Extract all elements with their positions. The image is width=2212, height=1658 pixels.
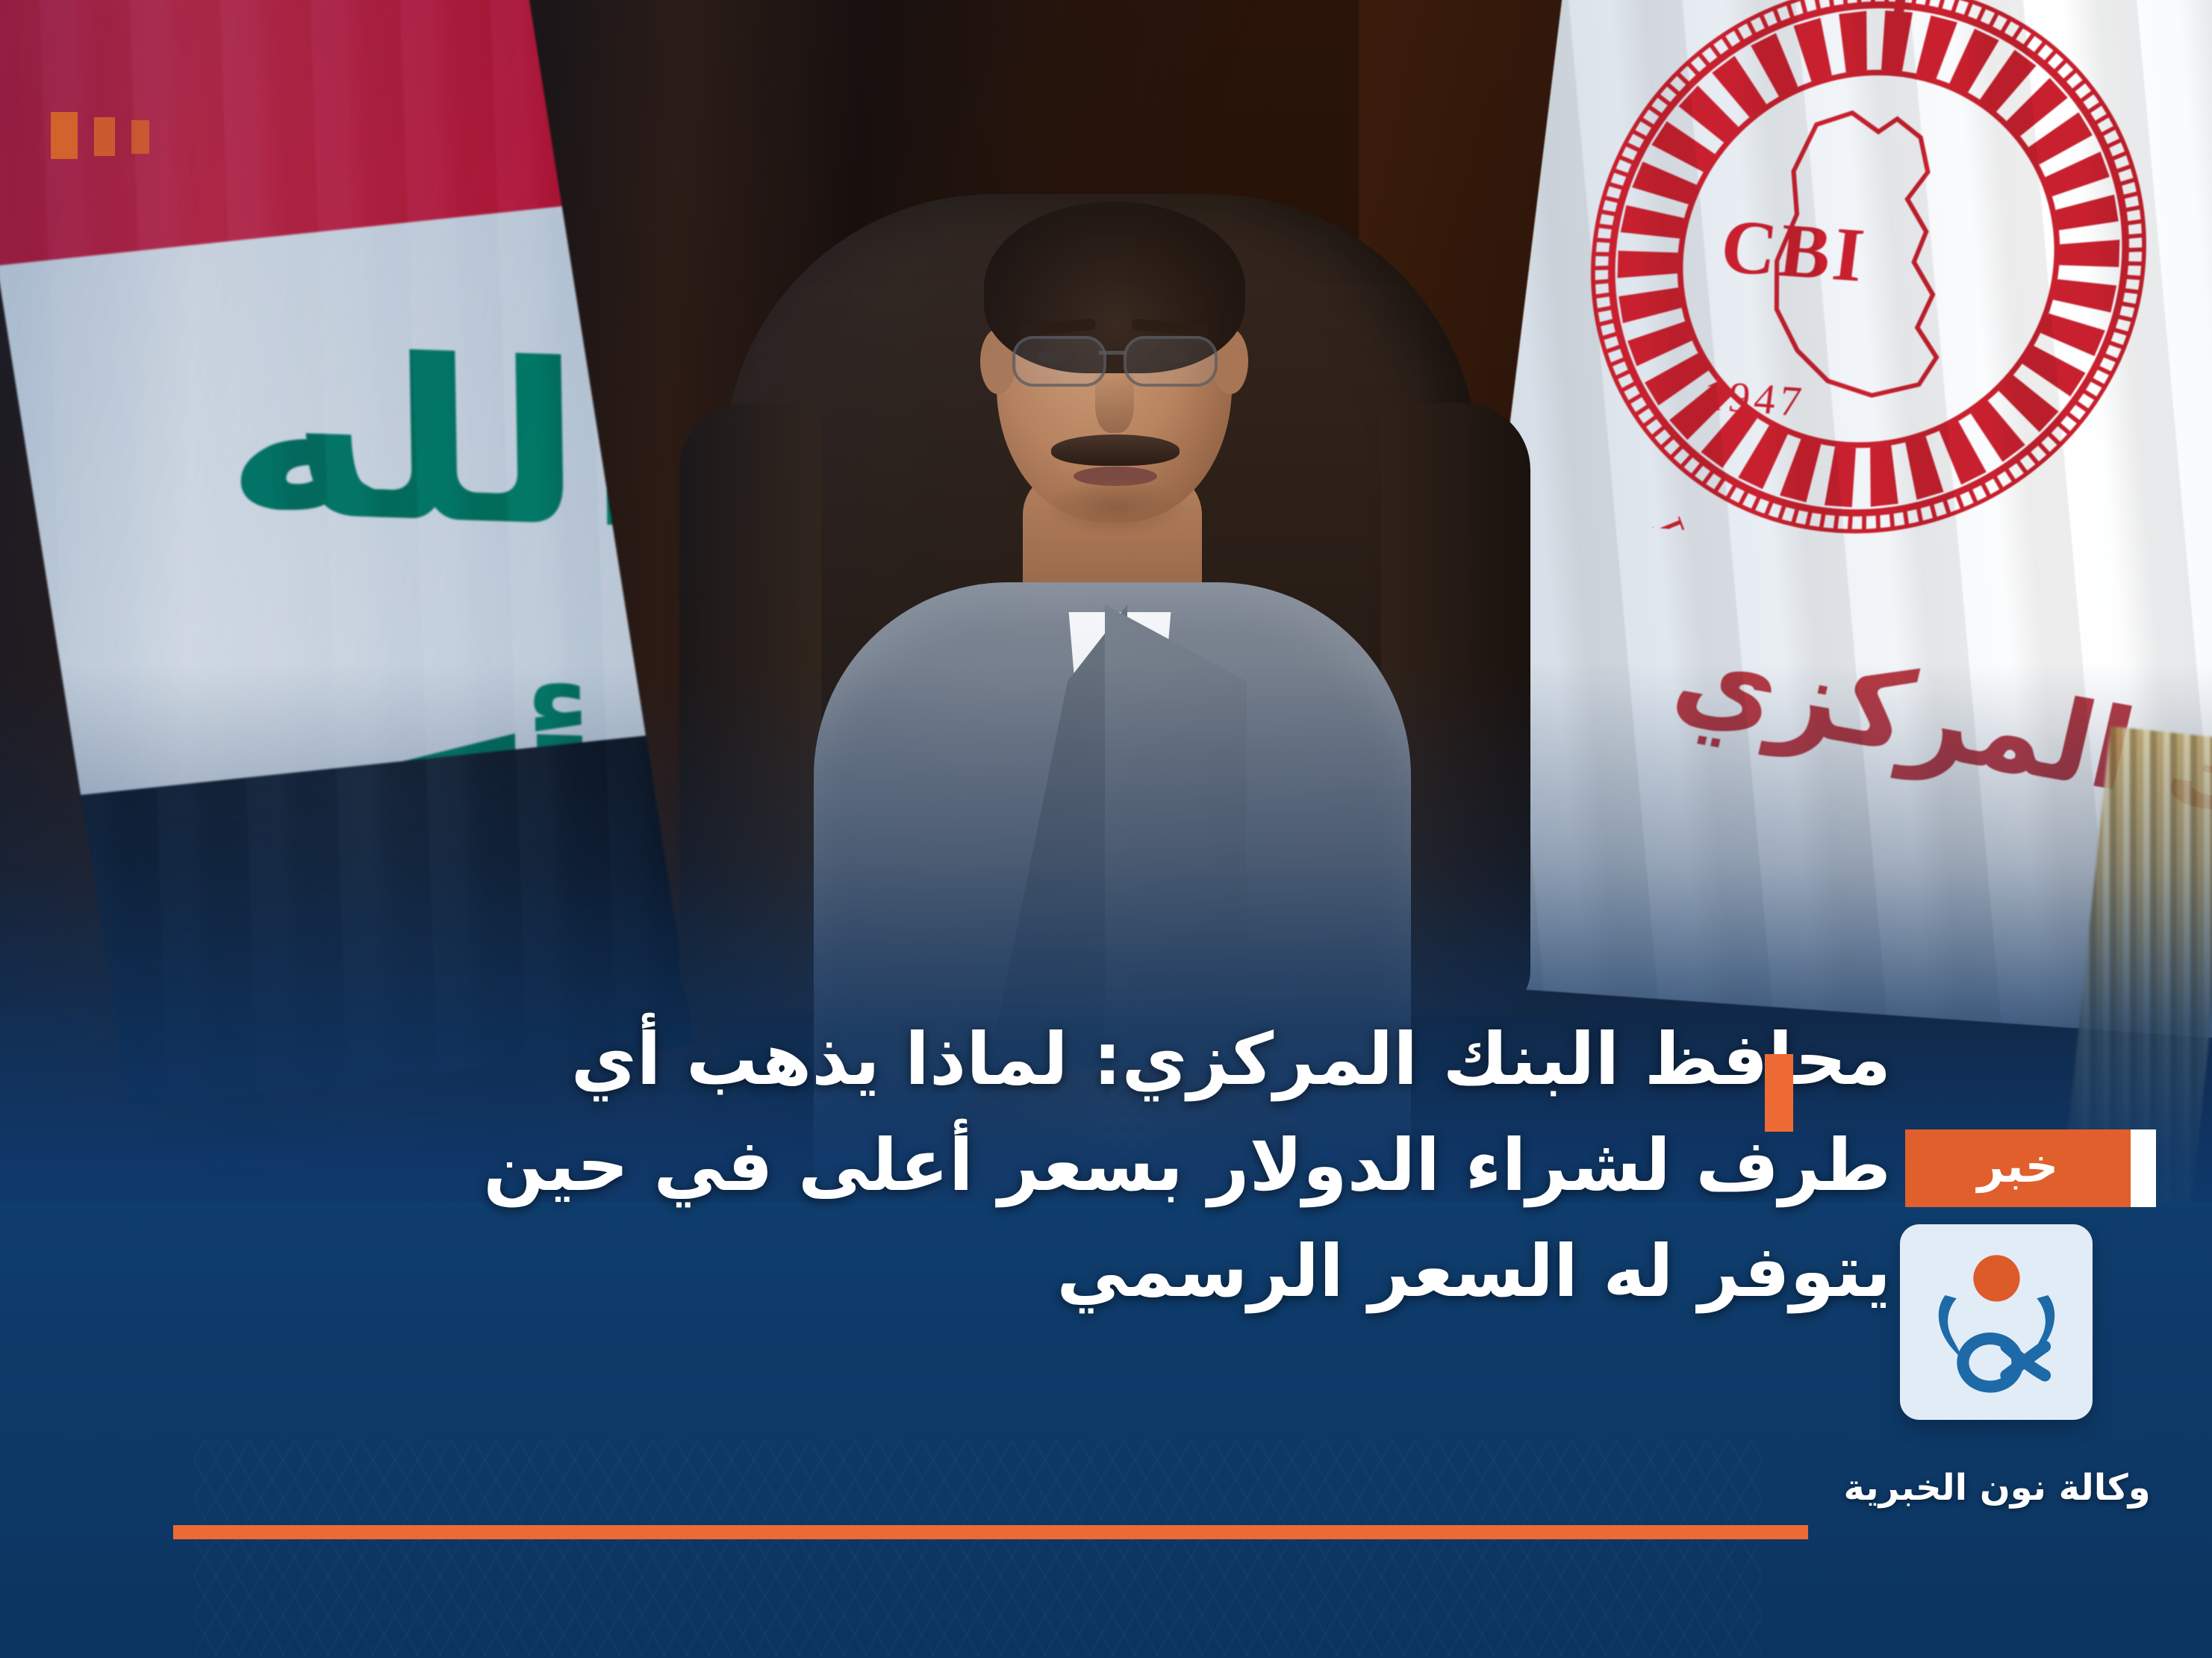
headline-line-1: محافظ البنك المركزي: لماذا يذهب أي [346,1006,1891,1112]
islamic-pattern-watermark [194,1441,1762,1657]
news-card: الله أكبر [0,0,2212,1658]
corner-mark-3-icon [131,120,149,154]
news-badge-label: خبر [1905,1129,2131,1207]
news-badge: خبر [1905,1129,2156,1207]
headline-accent-tick-icon [1765,1054,1793,1132]
corner-mark-2-icon [94,117,115,156]
headline-line-2: طرف لشراء الدولار بسعر أعلى في حين [346,1112,1891,1218]
corner-mark-1-icon [51,112,78,159]
orange-divider-rule [173,1525,1808,1539]
noon-agency-logo-icon [1916,1242,2077,1403]
corner-marks [51,112,149,159]
headline: محافظ البنك المركزي: لماذا يذهب أي طرف ل… [346,1006,1891,1324]
news-badge-white-bar [2131,1129,2156,1207]
headline-line-3: يتوفر له السعر الرسمي [346,1218,1891,1324]
agency-logo-card [1900,1224,2093,1420]
agency-name: وكالة نون الخبرية [1814,1467,2180,1509]
hero-photo: الله أكبر [0,0,2212,1658]
